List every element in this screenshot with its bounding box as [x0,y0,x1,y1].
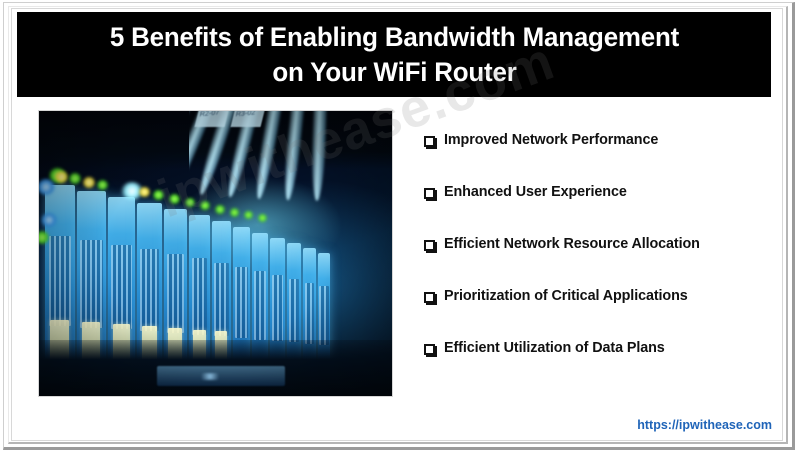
benefit-label: Prioritization of Critical Applications [444,287,688,306]
benefit-label: Efficient Utilization of Data Plans [444,339,665,358]
benefit-label: Improved Network Performance [444,131,658,150]
list-item: Efficient Network Resource Allocation [424,235,774,287]
benefits-list: Improved Network Performance Enhanced Us… [424,131,774,391]
title-banner: 5 Benefits of Enabling Bandwidth Managem… [18,13,770,96]
infographic-page: 5 Benefits of Enabling Bandwidth Managem… [0,0,800,455]
open-square-bullet-icon [424,240,435,251]
list-item: Enhanced User Experience [424,183,774,235]
photo-vignette [39,111,392,396]
open-square-bullet-icon [424,292,435,303]
open-square-bullet-icon [424,136,435,147]
list-item: Efficient Utilization of Data Plans [424,339,774,391]
site-url-link[interactable]: https://ipwithease.com [637,418,772,432]
benefit-label: Efficient Network Resource Allocation [444,235,700,254]
open-square-bullet-icon [424,344,435,355]
server-rack-photo: R2-07 R3-02 [38,110,393,397]
benefit-label: Enhanced User Experience [444,183,627,202]
list-item: Improved Network Performance [424,131,774,183]
open-square-bullet-icon [424,188,435,199]
list-item: Prioritization of Critical Applications [424,287,774,339]
page-title: 5 Benefits of Enabling Bandwidth Managem… [96,20,692,89]
